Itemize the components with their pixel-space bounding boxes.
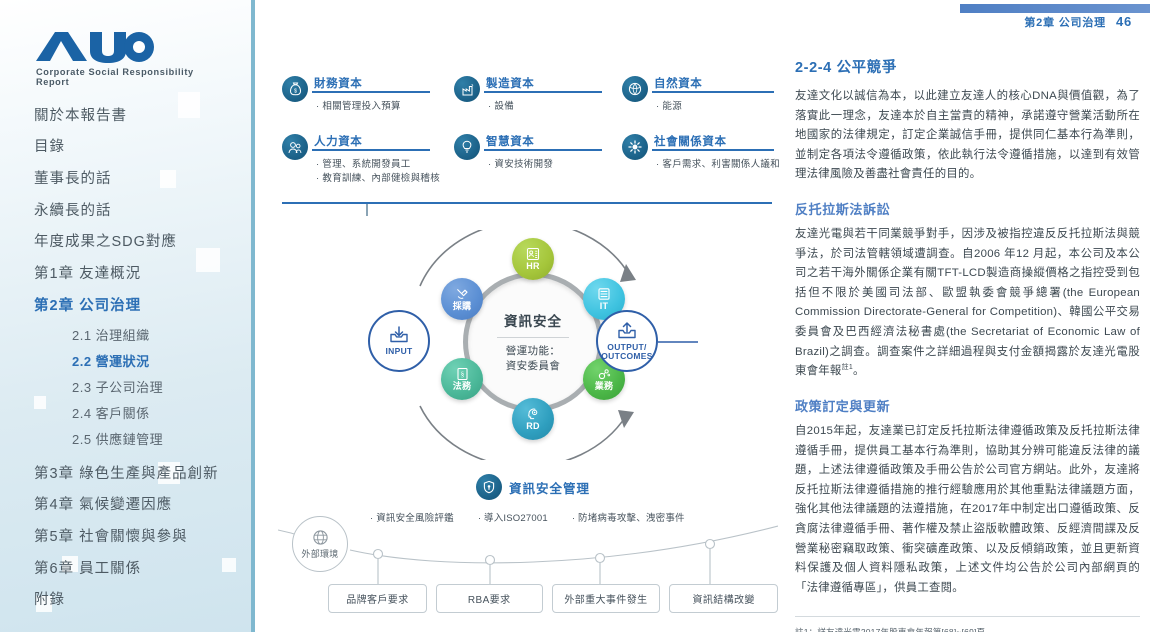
id-card-icon — [526, 247, 540, 261]
capital-rule — [312, 91, 430, 93]
output-tray-icon — [617, 322, 637, 341]
center-sub-line1: 營運功能： — [506, 345, 561, 357]
capital-item: 設備 — [488, 98, 514, 112]
sidebar-item-chapter3[interactable]: 第3章 綠色生產與產品創新 — [34, 452, 249, 490]
article-column: 2-2-4 公平競爭 友達文化以誠信為本，以此建立友達人的核心DNA與價值觀，為… — [795, 56, 1140, 632]
report-page: Corporate Social Responsibility Report 關… — [0, 0, 1150, 632]
logo-subtitle: Corporate Social Responsibility Report — [36, 67, 228, 87]
policy-paragraph: 自2015年起，友達業已訂定反托拉斯法律遵循政策及反托拉斯法律遵循手冊，提供員工… — [795, 422, 1140, 598]
antitrust-body: 友達光電與若干同業競爭對手，因涉及被指控違反反托拉斯法與競爭法，於司法管轄領域遭… — [795, 228, 1140, 377]
server-icon — [597, 287, 611, 301]
output-label: OUTPUT/OUTCOMES — [601, 343, 653, 361]
capital-item: 教育訓練、內部健檢與稽核 — [316, 170, 440, 184]
section-heading-antitrust: 反托拉斯法訴訟 — [795, 199, 1140, 218]
capital-title: 人力資本 — [314, 133, 362, 149]
node-legal[interactable]: § 法務 — [441, 358, 483, 400]
sidebar-item-sustainability-officer[interactable]: 永續長的話 — [34, 195, 249, 227]
security-management-section: 資訊安全管理 資訊安全風險評鑑 導入ISO27001 防堵病毒攻擊、洩密事件 — [278, 474, 778, 624]
capital-rule — [652, 149, 774, 151]
brain-gear-icon — [526, 407, 540, 421]
page-number: 46 — [1116, 14, 1132, 29]
output-label-line2: OUTCOMES — [601, 351, 653, 361]
center-hub: 資訊安全 營運功能：資安委員會 — [463, 272, 603, 412]
sidebar-item-chapter5[interactable]: 第5章 社會關懷與參與 — [34, 522, 249, 554]
divider-tick — [366, 204, 368, 216]
node-label: 業務 — [595, 382, 614, 391]
sidebar-subitem-2-3[interactable]: 2.3 子公司治理 — [34, 374, 249, 400]
header-accent-bar — [960, 4, 1150, 13]
management-connectors — [278, 474, 778, 624]
capital-item: 能源 — [656, 98, 682, 112]
page-title: 2-2-4 公平競爭 — [795, 56, 1140, 77]
external-environment-label: 外部環境 — [301, 547, 338, 560]
node-label: IT — [600, 302, 609, 311]
capital-item: 相關管理投入預算 — [316, 98, 401, 112]
center-divider — [497, 337, 569, 338]
capitals-group: $ 財務資本 相關管理投入預算 人力資本 管理、系統開發員工 教育訓練、內部健檢… — [282, 76, 778, 196]
sidebar-item-contents[interactable]: 目錄 — [34, 132, 249, 164]
capital-item: 管理、系統開發員工 — [316, 156, 411, 170]
svg-text:$: $ — [294, 89, 297, 95]
node-rd[interactable]: RD — [512, 398, 554, 440]
law-doc-icon: § — [456, 367, 469, 381]
globe-icon — [312, 529, 329, 546]
breadcrumb: 第2章 公司治理46 — [1024, 14, 1132, 30]
sidebar-subitem-2-2[interactable]: 2.2 營運狀況 — [34, 348, 249, 374]
input-node: INPUT — [368, 310, 430, 372]
leaf-globe-icon — [622, 76, 648, 102]
sidebar-item-chairman[interactable]: 董事長的話 — [34, 163, 249, 195]
intro-paragraph: 友達文化以誠信為本，以此建立友達人的核心DNA與價值觀，為了落實此一理念，友達本… — [795, 87, 1140, 185]
antitrust-body-tail: 。 — [853, 365, 865, 377]
sidebar-item-chapter1[interactable]: 第1章 友達概況 — [34, 258, 249, 290]
sidebar-item-chapter6[interactable]: 第6章 員工關係 — [34, 553, 249, 585]
security-cycle-diagram: INPUT OUTPUT/OUTCOMES 資訊安全 營運功能：資安委員會 HR — [368, 230, 698, 460]
value-creation-diagram: $ 財務資本 相關管理投入預算 人力資本 管理、系統開發員工 教育訓練、內部健檢… — [278, 62, 778, 622]
svg-text:§: § — [460, 371, 464, 379]
capital-title: 製造資本 — [486, 75, 534, 91]
sidebar-subitem-2-1[interactable]: 2.1 治理組織 — [34, 322, 249, 348]
node-label: 法務 — [453, 382, 472, 391]
sidebar-item-sdg[interactable]: 年度成果之SDG對應 — [34, 227, 249, 259]
node-label: HR — [526, 262, 540, 271]
capital-title: 社會關係資本 — [654, 133, 727, 149]
sidebar-subitem-2-5[interactable]: 2.5 供應鏈管理 — [34, 426, 249, 452]
capital-item: 客戶需求、利害關係人議和 — [656, 156, 780, 170]
sidebar-item-about[interactable]: 關於本報告書 — [34, 100, 249, 132]
node-label: RD — [526, 422, 540, 431]
capital-item: 資安技術開發 — [488, 156, 553, 170]
capital-title: 自然資本 — [654, 75, 702, 91]
section-divider — [282, 202, 772, 204]
center-subtitle: 營運功能：資安委員會 — [506, 344, 561, 374]
antitrust-paragraph: 友達光電與若干同業競爭對手，因涉及被指控違反反托拉斯法與競爭法，於司法管轄領域遭… — [795, 225, 1140, 382]
factory-icon — [454, 76, 480, 102]
input-tray-icon — [389, 326, 409, 345]
footnote-marker[interactable]: 註1 — [842, 365, 853, 372]
sidebar-subitem-2-4[interactable]: 2.4 客戶關係 — [34, 400, 249, 426]
breadcrumb-chapter: 第2章 公司治理 — [1024, 17, 1106, 29]
footnote-text: 註1：詳友達光電2017年股東會年報第[68]~[69]頁 — [795, 626, 1140, 632]
lightbulb-icon — [454, 134, 480, 160]
table-of-contents: 關於本報告書 目錄 董事長的話 永續長的話 年度成果之SDG對應 第1章 友達概… — [34, 100, 249, 617]
external-environment-node: 外部環境 — [292, 516, 348, 572]
people-icon — [282, 134, 308, 160]
sidebar-item-chapter4[interactable]: 第4章 氣候變遷因應 — [34, 490, 249, 522]
footnote-divider — [795, 616, 1140, 617]
node-label: 採購 — [453, 302, 472, 311]
output-node: OUTPUT/OUTCOMES — [596, 310, 658, 372]
capital-title: 財務資本 — [314, 75, 362, 91]
center-title: 資訊安全 — [504, 310, 562, 330]
capital-rule — [312, 149, 430, 151]
capital-rule — [652, 91, 774, 93]
sidebar-item-appendix[interactable]: 附錄 — [34, 585, 249, 617]
capital-rule — [484, 91, 602, 93]
center-sub-line2: 資安委員會 — [506, 360, 561, 372]
input-label: INPUT — [386, 347, 413, 356]
network-icon — [597, 367, 611, 381]
node-procurement[interactable]: 採購 — [441, 278, 483, 320]
sun-network-icon — [622, 134, 648, 160]
auo-logo-icon — [34, 30, 154, 64]
capital-title: 智慧資本 — [486, 133, 534, 149]
sidebar-item-chapter2[interactable]: 第2章 公司治理 — [34, 290, 249, 322]
logo: Corporate Social Responsibility Report — [34, 30, 224, 87]
sidebar: Corporate Social Responsibility Report 關… — [0, 0, 255, 632]
node-hr[interactable]: HR — [512, 238, 554, 280]
section-heading-policy: 政策訂定與更新 — [795, 396, 1140, 415]
money-bag-icon: $ — [282, 76, 308, 102]
cart-hand-icon — [455, 287, 469, 301]
capital-rule — [484, 149, 602, 151]
